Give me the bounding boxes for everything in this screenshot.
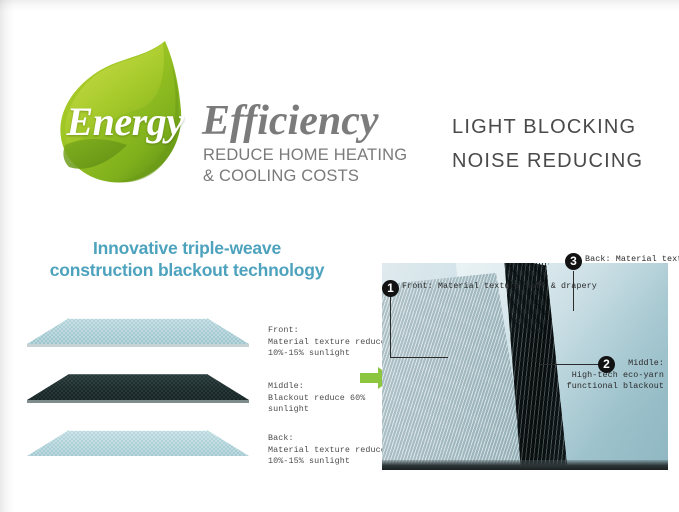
callout-1-badge: 1: [382, 280, 399, 297]
callout-1-title: Front:: [402, 281, 433, 291]
layer-back-desc-1: Material texture reduce: [268, 445, 386, 457]
callout-3-title: Back:: [585, 254, 611, 264]
layer-middle-desc-1: Blackout reduce 60%: [268, 393, 365, 405]
page-title: Efficiency: [202, 97, 379, 145]
callout-3-leader-vertical: [573, 271, 574, 311]
section-heading: Innovative triple-weave construction bla…: [22, 237, 352, 281]
callout-3-badge: 3: [565, 253, 582, 270]
subtitle-line-2: & COOLING COSTS: [203, 166, 407, 187]
layer-back-desc-2: 10%-15% sunlight: [268, 456, 386, 468]
layer-swatch-back: [27, 428, 249, 461]
callout-2-desc-1: High-tech eco-yarn: [564, 370, 664, 382]
layer-middle-desc-2: sunlight: [268, 404, 365, 416]
callout-1-desc-2: soft & drapery: [525, 281, 597, 291]
layer-label-middle: Middle: Blackout reduce 60% sunlight: [268, 381, 365, 416]
infographic-page: Energy Efficiency REDUCE HOME HEATING & …: [0, 0, 679, 512]
section-heading-line-1: Innovative triple-weave: [22, 237, 352, 259]
callout-3-text: Back: Material texture soft & drapery: [585, 254, 679, 266]
layer-front-title: Front:: [268, 325, 386, 337]
feature-claims: LIGHT BLOCKING NOISE REDUCING: [452, 110, 643, 178]
subtitle-line-1: REDUCE HOME HEATING: [203, 145, 407, 166]
section-heading-line-2: construction blackout technology: [22, 259, 352, 281]
layer-front-desc-1: Material texture reduce: [268, 337, 386, 349]
callout-2-desc-2: functional blackout: [564, 381, 664, 393]
layer-swatch-front: [27, 316, 249, 349]
layer-back-title: Back:: [268, 433, 386, 445]
callout-2-text: Middle: High-tech eco-yarn functional bl…: [564, 358, 664, 393]
callout-1-desc-1: Material texture: [438, 281, 520, 291]
claim-light-blocking: LIGHT BLOCKING: [452, 110, 643, 144]
subtitle: REDUCE HOME HEATING & COOLING COSTS: [203, 145, 407, 187]
layer-label-front: Front: Material texture reduce 10%-15% s…: [268, 325, 386, 360]
callout-1-text: Front: Material texture soft & drapery: [402, 281, 597, 293]
claim-noise-reducing: NOISE REDUCING: [452, 144, 643, 178]
callout-3-desc-1: Material texture: [616, 254, 679, 264]
layer-label-back: Back: Material texture reduce 10%-15% su…: [268, 433, 386, 468]
leaf-logo-icon: [47, 33, 197, 193]
layer-front-desc-2: 10%-15% sunlight: [268, 348, 386, 360]
callout-2-title: Middle:: [564, 358, 664, 370]
callout-1-leader-horizontal: [390, 357, 448, 358]
layer-swatch-middle: [27, 372, 249, 405]
photo-bottom-shadow: [382, 460, 668, 470]
callout-1-leader-vertical: [390, 297, 391, 357]
layer-middle-title: Middle:: [268, 381, 365, 393]
